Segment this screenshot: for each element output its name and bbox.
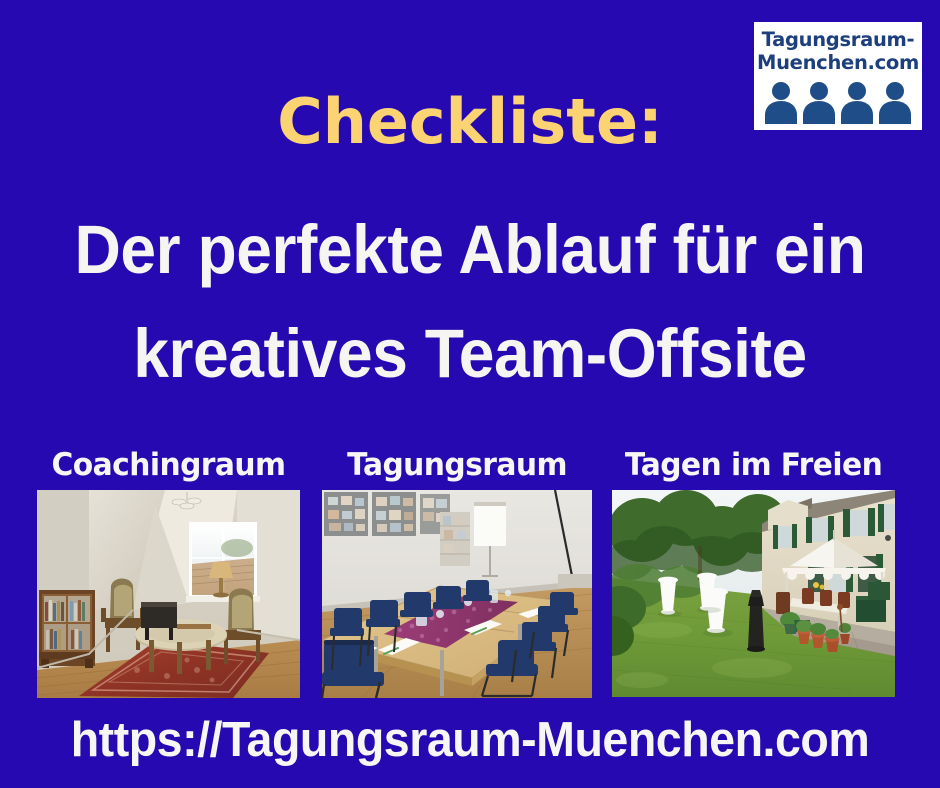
page-title: Checkliste: <box>0 86 940 158</box>
subtitle-line-2: kreatives Team-Offsite <box>33 302 907 406</box>
photo-tagen-im-freien <box>612 490 895 697</box>
photo-coachingraum <box>37 490 300 698</box>
logo-line-1: Tagungsraum- <box>762 28 915 51</box>
coachingraum-illustration <box>37 490 300 698</box>
photo-caption-tagen-im-freien: Tagen im Freien <box>618 448 890 482</box>
tagen-im-freien-illustration <box>612 490 895 697</box>
tagungsraum-illustration <box>322 490 592 698</box>
poster-canvas: Tagungsraum- Muenchen.com <box>0 0 940 788</box>
logo-line-2: Muenchen.com <box>757 51 919 74</box>
subtitle-block: Der perfekte Ablauf für ein kreatives Te… <box>0 198 940 406</box>
photo-tagungsraum <box>322 490 592 698</box>
footer-website-url[interactable]: https://Tagungsraum-Muenchen.com <box>24 712 917 768</box>
photo-caption-tagungsraum: Tagungsraum <box>327 448 586 482</box>
headline-block: Checkliste: <box>0 86 940 158</box>
photo-caption-coachingraum: Coachingraum <box>42 448 294 482</box>
subtitle-line-1: Der perfekte Ablauf für ein <box>33 198 907 302</box>
